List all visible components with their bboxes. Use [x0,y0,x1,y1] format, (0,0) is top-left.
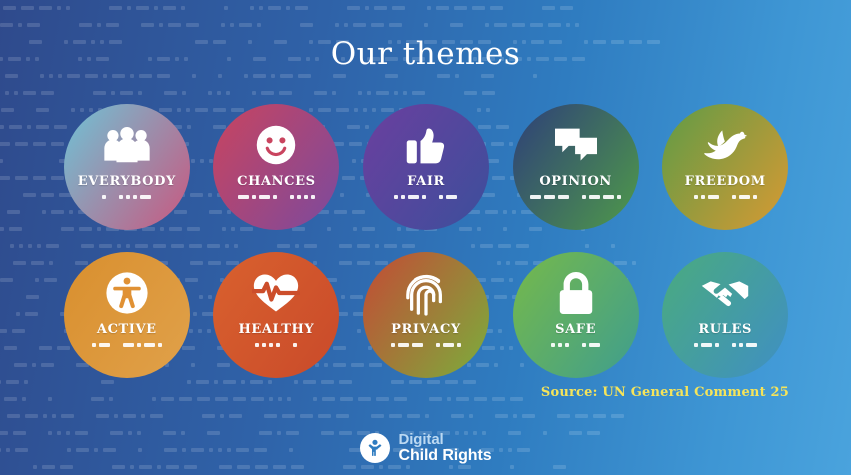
logo-wordmark: Digital Child Rights [398,432,491,464]
speech-bubbles-icon [550,122,602,168]
child-figure-logo-icon [359,433,389,463]
accessibility-person-icon [101,270,153,316]
heart-pulse-icon [250,270,302,316]
theme-circle-freedom[interactable]: FREEDOM [662,104,788,230]
theme-circle-everybody[interactable]: EVERYBODY [64,104,190,230]
footer-logo: Digital Child Rights [359,432,491,464]
theme-label: HEALTHY [238,323,314,336]
page-title: Our themes [0,36,851,72]
theme-label: EVERYBODY [78,175,176,188]
dove-icon [699,122,751,168]
theme-morse-code [391,342,461,347]
themes-grid: EVERYBODYCHANCESFAIROPINIONFREEDOMACTIVE… [52,104,800,378]
theme-circle-opinion[interactable]: OPINION [513,104,639,230]
theme-label: RULES [698,323,752,336]
three-people-icon [101,122,153,168]
logo-line-1: Digital [398,432,491,447]
theme-circle-chances[interactable]: CHANCES [213,104,339,230]
theme-label: ACTIVE [97,323,157,336]
handshake-icon [699,270,751,316]
theme-label: PRIVACY [391,323,461,336]
theme-morse-code [255,342,297,347]
theme-circle-rules[interactable]: RULES [662,252,788,378]
theme-morse-code [530,194,621,199]
theme-morse-code [694,342,757,347]
thumbs-up-icon [400,122,452,168]
theme-morse-code [394,194,457,199]
slide-canvas: Our themes EVERYBODYCHANCESFAIROPINIONFR… [0,0,851,475]
theme-circle-healthy[interactable]: HEALTHY [213,252,339,378]
theme-label: OPINION [539,175,612,188]
theme-morse-code [92,342,162,347]
fingerprint-icon [400,270,452,316]
theme-label: SAFE [555,323,596,336]
theme-circle-privacy[interactable]: PRIVACY [363,252,489,378]
theme-circle-fair[interactable]: FAIR [363,104,489,230]
theme-morse-code [102,194,151,199]
smiley-face-icon [250,122,302,168]
theme-morse-code [238,194,315,199]
source-note: Source: UN General Comment 25 [541,385,789,400]
theme-circle-active[interactable]: ACTIVE [64,252,190,378]
theme-label: FREEDOM [685,175,766,188]
padlock-icon [550,270,602,316]
theme-label: FAIR [407,175,445,188]
theme-morse-code [551,342,600,347]
theme-label: CHANCES [237,175,315,188]
theme-morse-code [694,194,757,199]
logo-line-2: Child Rights [398,448,491,464]
theme-circle-safe[interactable]: SAFE [513,252,639,378]
